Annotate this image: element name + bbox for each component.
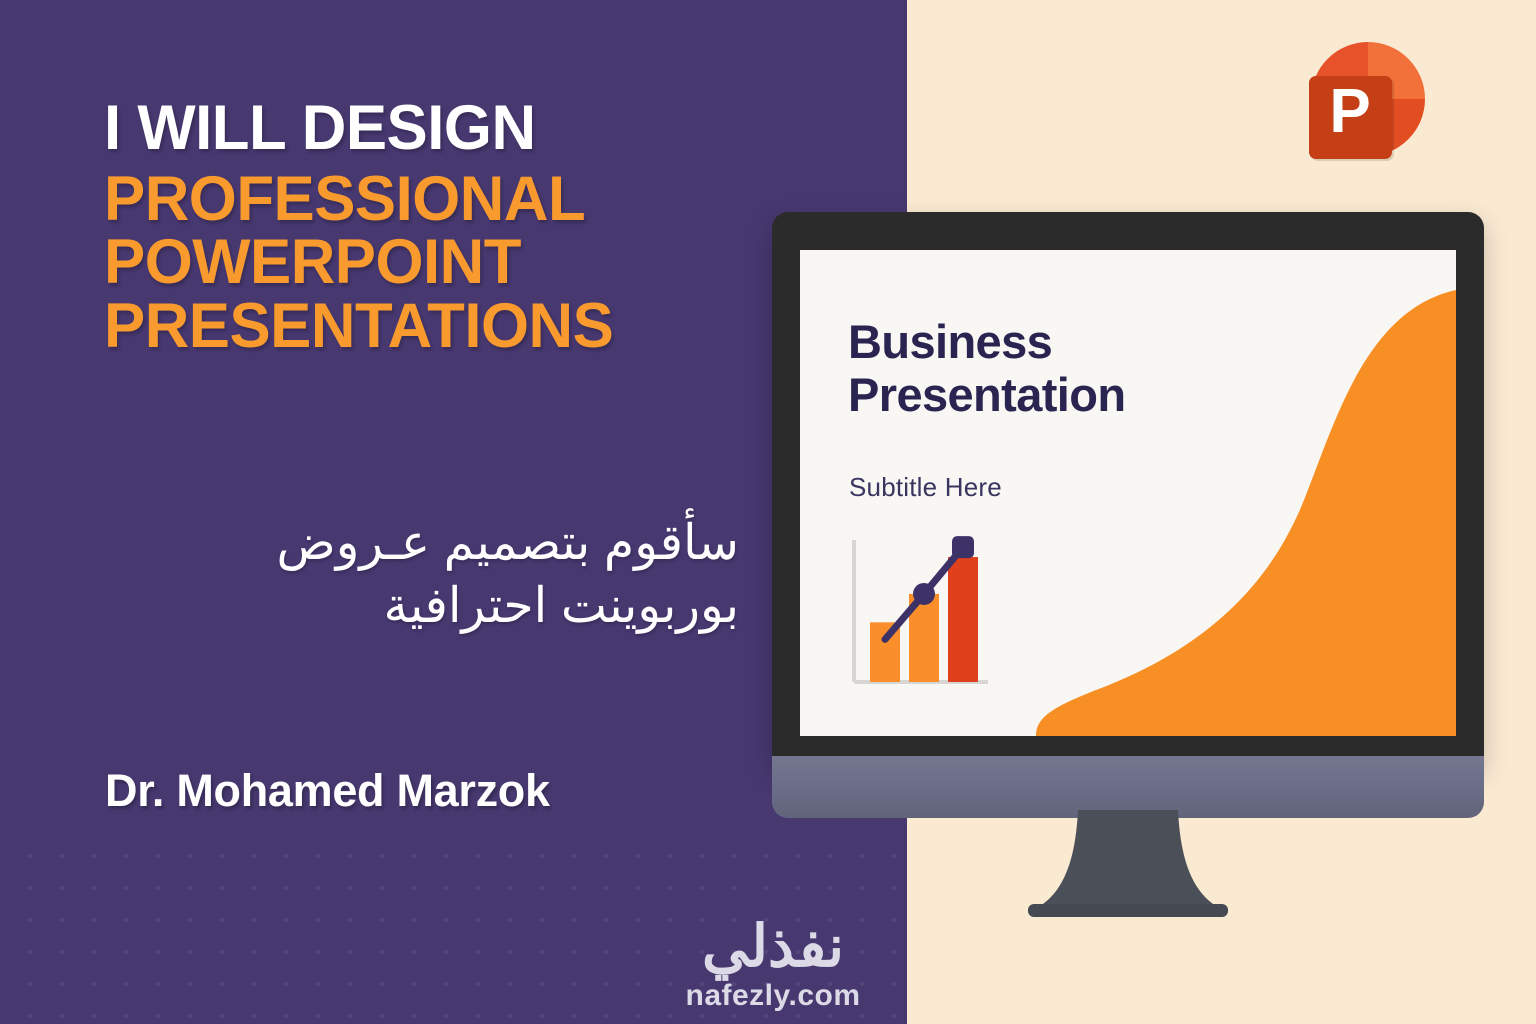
slide-title: Business Presentation	[848, 316, 1126, 421]
chart-marker	[913, 583, 935, 605]
slide-title-line-1: Business	[848, 316, 1126, 369]
headline-line-1: I WILL DESIGN	[104, 98, 790, 160]
headline-block: I WILL DESIGN PROFESSIONAL POWERPOINT PR…	[104, 98, 804, 358]
poster-canvas: I WILL DESIGN PROFESSIONAL POWERPOINT PR…	[0, 0, 1536, 1024]
chart-bar	[948, 557, 978, 682]
author-name: Dr. Mohamed Marzok	[105, 765, 550, 817]
brand-arabic-wordmark: نفذلي	[648, 918, 898, 976]
monitor-chin-bar	[772, 756, 1484, 818]
monitor-screen: Business Presentation Subtitle Here	[800, 250, 1456, 736]
monitor-mockup: Business Presentation Subtitle Here	[772, 212, 1484, 816]
arabic-subheadline-line-2: بوربوينت احترافية	[99, 575, 739, 638]
slide-subtitle: Subtitle Here	[849, 472, 1002, 503]
arabic-subheadline-line-1: سأقوم بتصميم عـروض	[99, 512, 739, 575]
slide-bar-chart	[848, 536, 998, 694]
arabic-subheadline: سأقوم بتصميم عـروض بوربوينت احترافية	[99, 512, 739, 637]
chart-marker	[952, 536, 974, 558]
powerpoint-icon: P	[1305, 36, 1431, 162]
slide-title-line-2: Presentation	[848, 369, 1126, 422]
powerpoint-icon-letter: P	[1329, 77, 1370, 146]
headline-line-2: PROFESSIONAL	[104, 169, 790, 231]
headline-line-4: PRESENTATIONS	[104, 296, 790, 358]
brand-logo: نفذلي nafezly.com	[648, 918, 898, 1013]
monitor-stand	[1020, 810, 1236, 922]
brand-url: nafezly.com	[648, 979, 898, 1013]
headline-line-3: POWERPOINT	[104, 232, 790, 294]
